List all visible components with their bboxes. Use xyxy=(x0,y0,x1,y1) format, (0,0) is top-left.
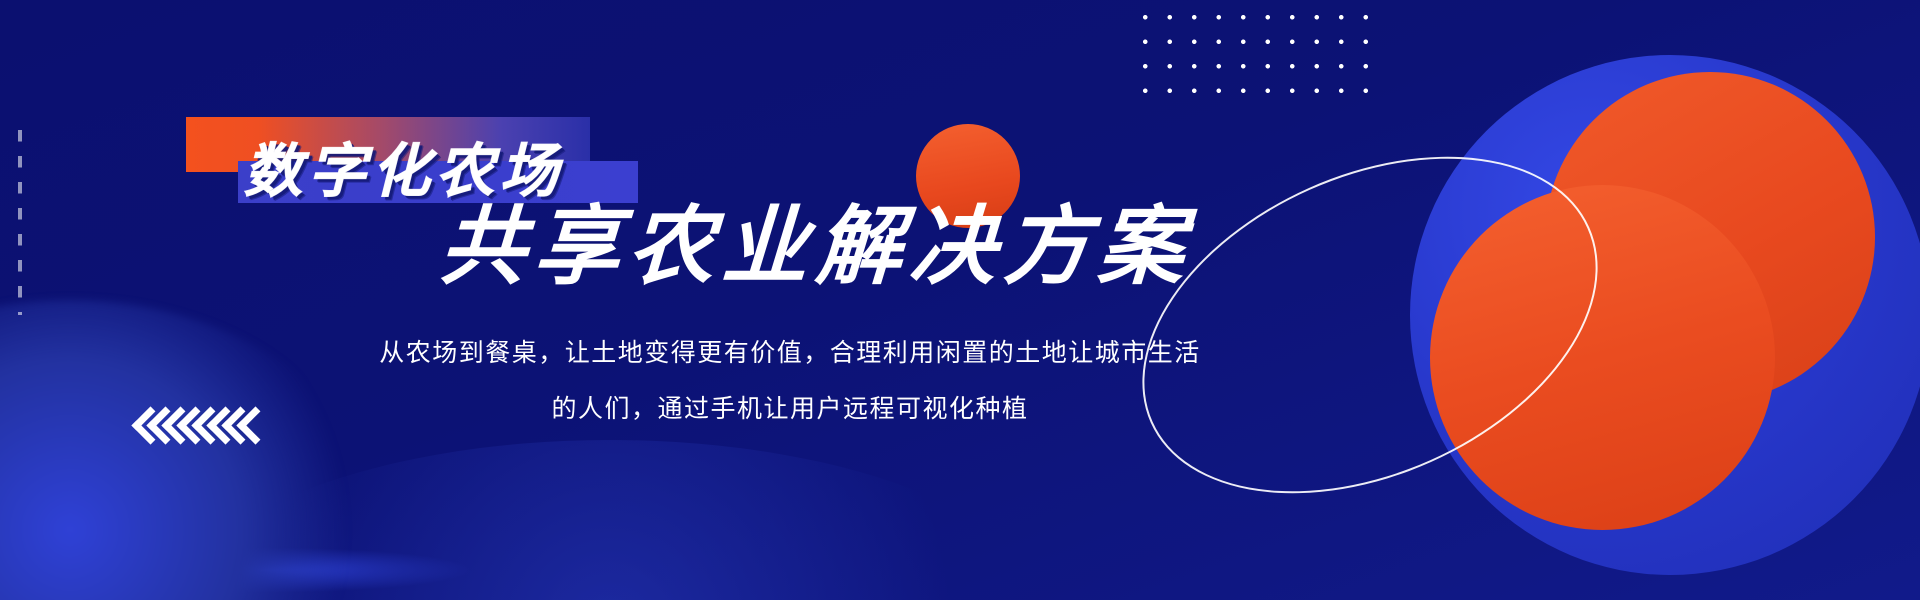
chevron-left-icon xyxy=(241,408,254,448)
chevron-left-icon xyxy=(181,408,194,448)
badge-label: 数字化农场 xyxy=(244,143,604,201)
description: 从农场到餐桌，让土地变得更有价值，合理利用闲置的土地让城市生活 的人们，通过手机… xyxy=(300,325,1280,437)
description-line-1: 从农场到餐桌，让土地变得更有价值，合理利用闲置的土地让城市生活 xyxy=(300,325,1280,381)
chevron-left-icon xyxy=(211,408,224,448)
page-title: 共享农业解决方案 xyxy=(438,202,1183,292)
chevron-left-icon xyxy=(226,408,239,448)
chevron-left-icon xyxy=(136,408,149,448)
chevron-left-icon xyxy=(151,408,164,448)
chevron-decoration xyxy=(136,408,254,448)
description-line-2: 的人们，通过手机让用户远程可视化种植 xyxy=(300,381,1280,437)
banner-content: 数字化农场 共享农业解决方案 从农场到餐桌，让土地变得更有价值，合理利用闲置的土… xyxy=(0,0,1920,600)
badge: 数字化农场 xyxy=(186,117,606,203)
chevron-left-icon xyxy=(196,408,209,448)
chevron-left-icon xyxy=(166,408,179,448)
hero-banner: 数字化农场 共享农业解决方案 从农场到餐桌，让土地变得更有价值，合理利用闲置的土… xyxy=(0,0,1920,600)
